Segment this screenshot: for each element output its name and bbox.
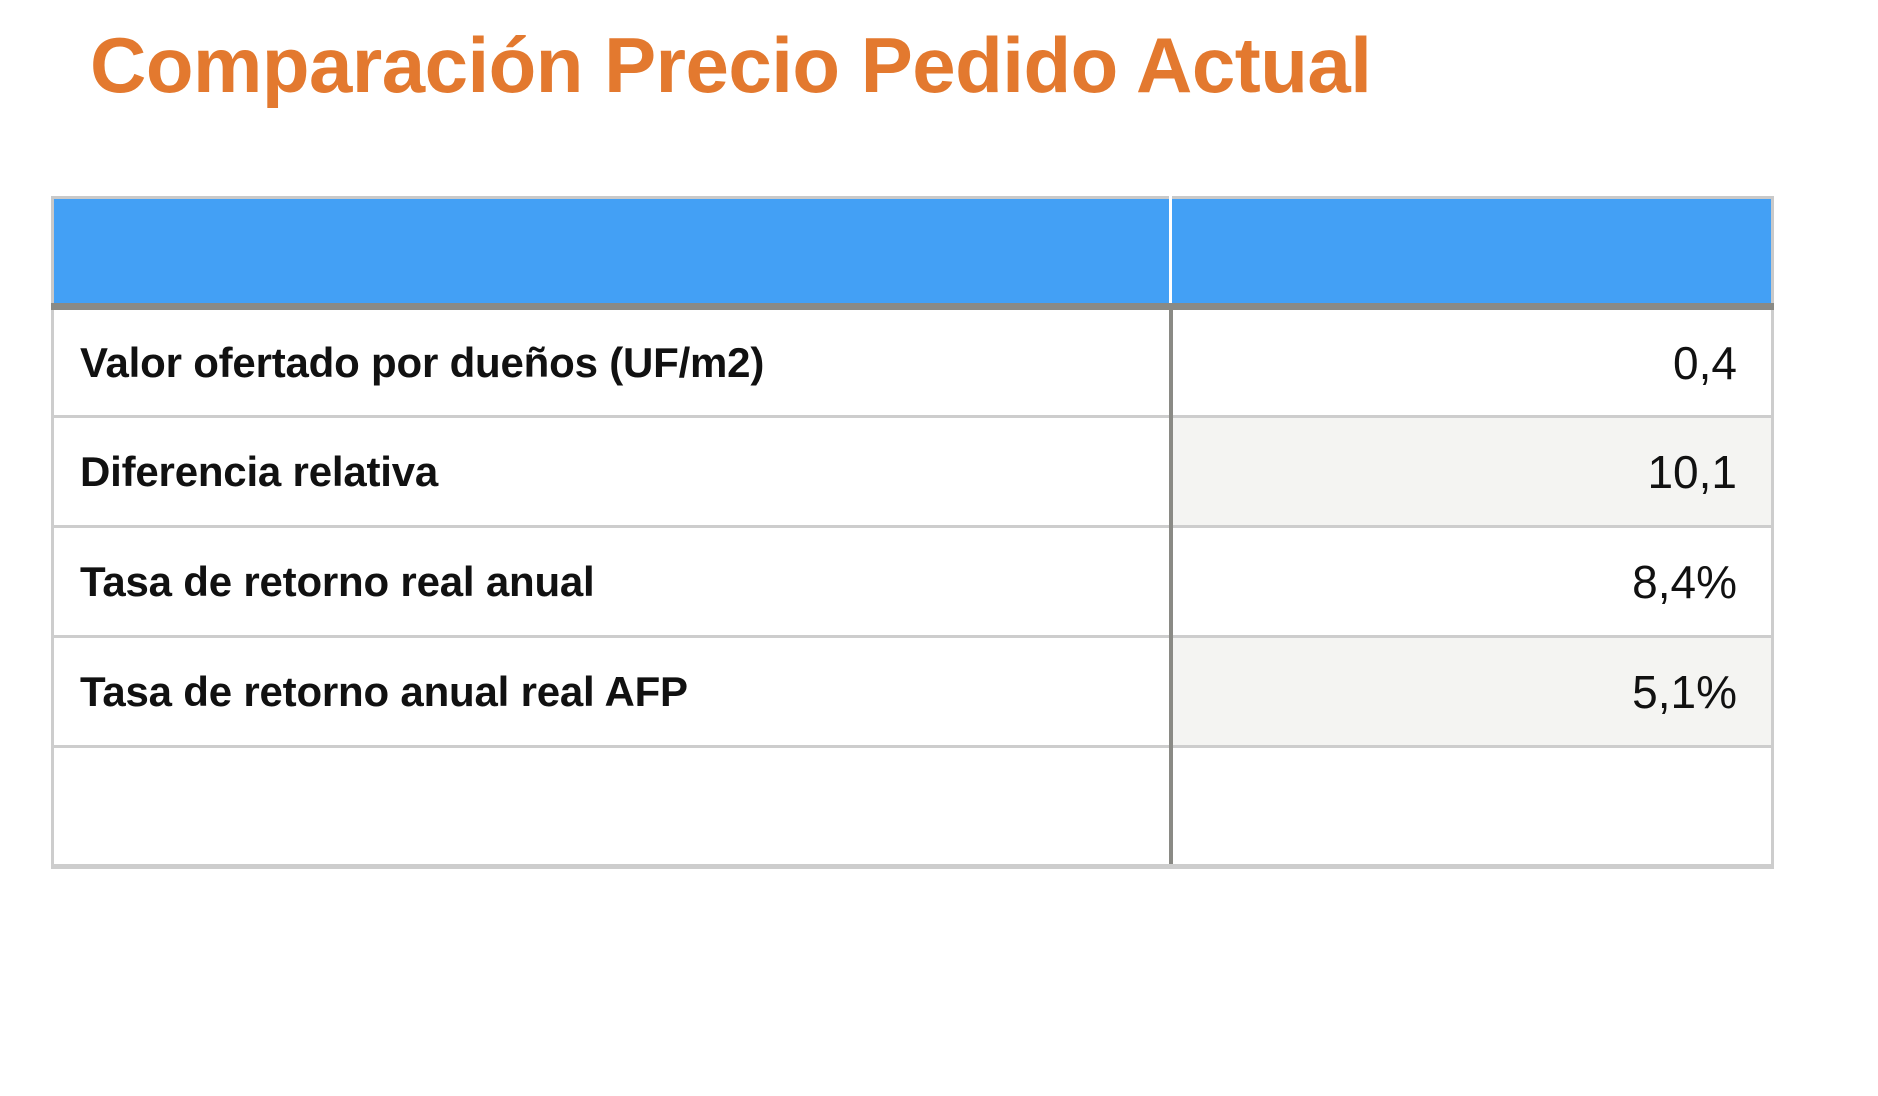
row-label-valor-ofertado: Valor ofertado por dueños (UF/m2) [53,307,1171,417]
row-label-tasa-retorno-real-anual: Tasa de retorno real anual [53,527,1171,637]
table-row-empty[interactable] [53,747,1773,867]
row-value-empty [1171,747,1773,867]
column-header-value[interactable] [1171,198,1773,307]
row-value-valor-ofertado: 0,4 [1171,307,1773,417]
table-header-row [53,198,1773,307]
table-row[interactable]: Tasa de retorno real anual 8,4% [53,527,1773,637]
row-value-diferencia-relativa: 10,1 [1171,417,1773,527]
table-body: Valor ofertado por dueños (UF/m2) 0,4 Di… [53,307,1773,867]
comparison-table: Valor ofertado por dueños (UF/m2) 0,4 Di… [51,196,1774,869]
table-row[interactable]: Tasa de retorno anual real AFP 5,1% [53,637,1773,747]
column-header-label-text [54,199,1169,303]
row-value-tasa-retorno-real-anual: 8,4% [1171,527,1773,637]
slide: Comparación Precio Pedido Actual [0,0,1878,1096]
row-label-tasa-retorno-anual-real-afp: Tasa de retorno anual real AFP [53,637,1171,747]
column-header-label[interactable] [53,198,1171,307]
table-header [53,198,1773,307]
row-value-tasa-retorno-anual-real-afp: 5,1% [1171,637,1773,747]
page-title: Comparación Precio Pedido Actual [90,26,1790,104]
table-row[interactable]: Valor ofertado por dueños (UF/m2) 0,4 [53,307,1773,417]
comparison-table-container: Valor ofertado por dueños (UF/m2) 0,4 Di… [51,196,1771,869]
row-label-diferencia-relativa: Diferencia relativa [53,417,1171,527]
table-row[interactable]: Diferencia relativa 10,1 [53,417,1773,527]
row-label-empty [53,747,1171,867]
column-header-value-text [1172,199,1771,303]
